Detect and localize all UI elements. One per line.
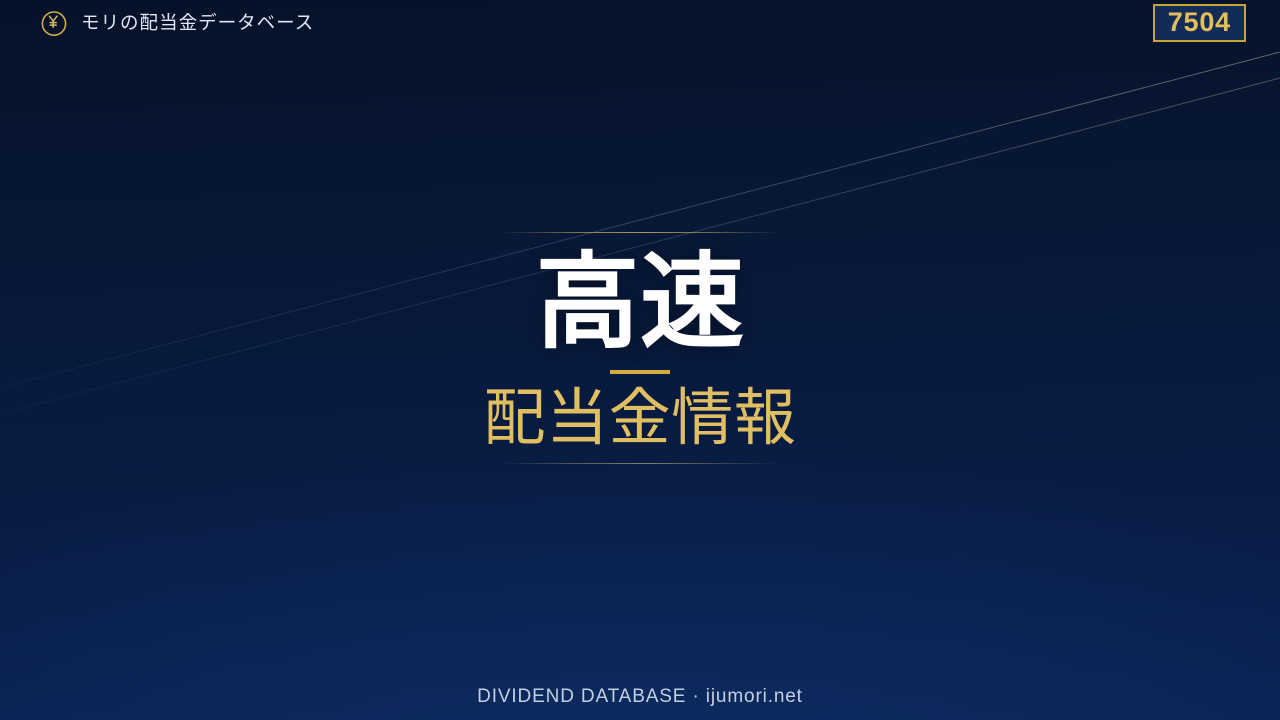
footer-credit: DIVIDEND DATABASE · ijumori.net (0, 686, 1280, 708)
bottom-rule (504, 463, 776, 464)
gold-divider (610, 370, 670, 374)
slide-header: モリの配当金データベース 7504 (0, 0, 1280, 90)
ticker-badge: 7504 (1153, 4, 1246, 42)
brand-lockup: モリの配当金データベース (40, 9, 314, 37)
brand-title: モリの配当金データベース (81, 14, 314, 33)
top-rule (504, 232, 776, 233)
page-subtitle: 配当金情報 (483, 388, 796, 450)
yen-circle-icon (40, 9, 68, 37)
title-slide: モリの配当金データベース 7504 高速 配当金情報 DIVIDEND DATA… (0, 0, 1280, 720)
title-block: 高速 配当金情報 (0, 232, 1280, 464)
page-title: 高速 (535, 256, 744, 352)
